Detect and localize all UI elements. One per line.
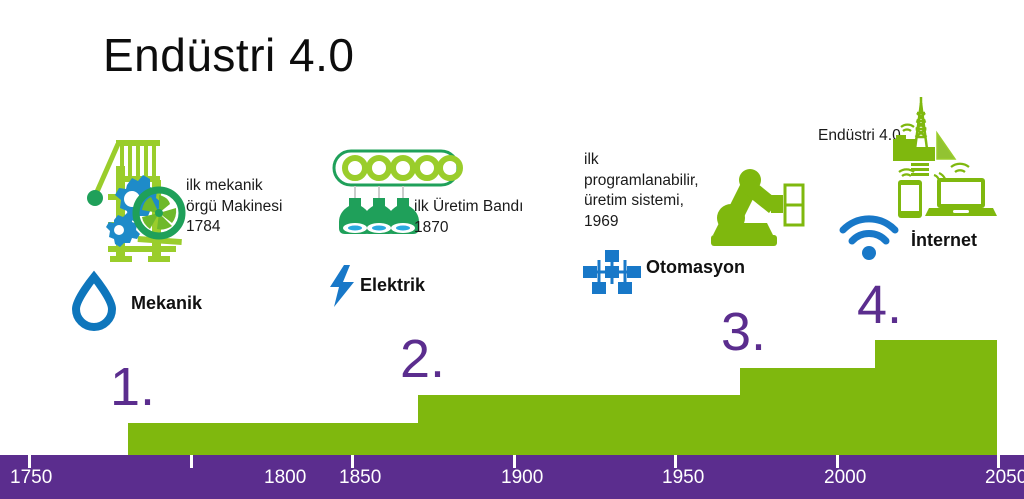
milestone-description-1: ilk mekanik örgü Makinesi 1784: [186, 176, 283, 238]
axis-tick-label: 1900: [501, 468, 543, 487]
knitting-loom-icon: [86, 136, 184, 264]
step-number-1: 1.: [110, 360, 155, 414]
category-label-internet: İnternet: [911, 231, 977, 249]
laptop-icon: [925, 162, 997, 220]
category-label-mekanik: Mekanik: [131, 294, 202, 312]
step-bar-1: [128, 423, 418, 455]
axis-tick-label: 2050: [985, 468, 1024, 487]
page-title: Endüstri 4.0: [103, 32, 354, 78]
milestone-description-3: ilk programlanabilir, üretim sistemi, 19…: [584, 150, 699, 232]
step-number-4: 4.: [857, 278, 902, 332]
axis-tick-label: 1750: [10, 468, 52, 487]
step-number-2: 2.: [400, 332, 445, 386]
category-label-otomasyon: Otomasyon: [646, 258, 745, 276]
axis-tick-label: 1950: [662, 468, 704, 487]
axis-tick: [190, 455, 193, 468]
smartphone-icon: [890, 168, 924, 218]
category-label-elektrik: Elektrik: [360, 276, 425, 294]
step-number-3: 3.: [721, 305, 766, 359]
timeline-axis-bar: 1750 1800 1850 1900 1950 2000 2050: [0, 455, 1024, 499]
wifi-icon: [838, 216, 900, 260]
milestone-description-2: ilk Üretim Bandı 1870: [414, 197, 523, 238]
milestone-description-4: Endüstri 4.0: [818, 128, 901, 144]
step-bar-3: [740, 368, 875, 455]
robot-arm-icon: [703, 163, 803, 248]
axis-tick-label: 1850: [339, 468, 381, 487]
infographic-canvas: Endüstri 4.0 1. 2. 3. 4.: [0, 0, 1024, 499]
axis-tick-label: 2000: [824, 468, 866, 487]
axis-tick-label: 1800: [264, 468, 306, 487]
step-bar-4: [875, 340, 997, 455]
step-bar-2: [418, 395, 740, 455]
water-drop-icon: [72, 275, 116, 327]
network-nodes-icon: [583, 250, 641, 294]
lightning-bolt-icon: [328, 265, 356, 307]
